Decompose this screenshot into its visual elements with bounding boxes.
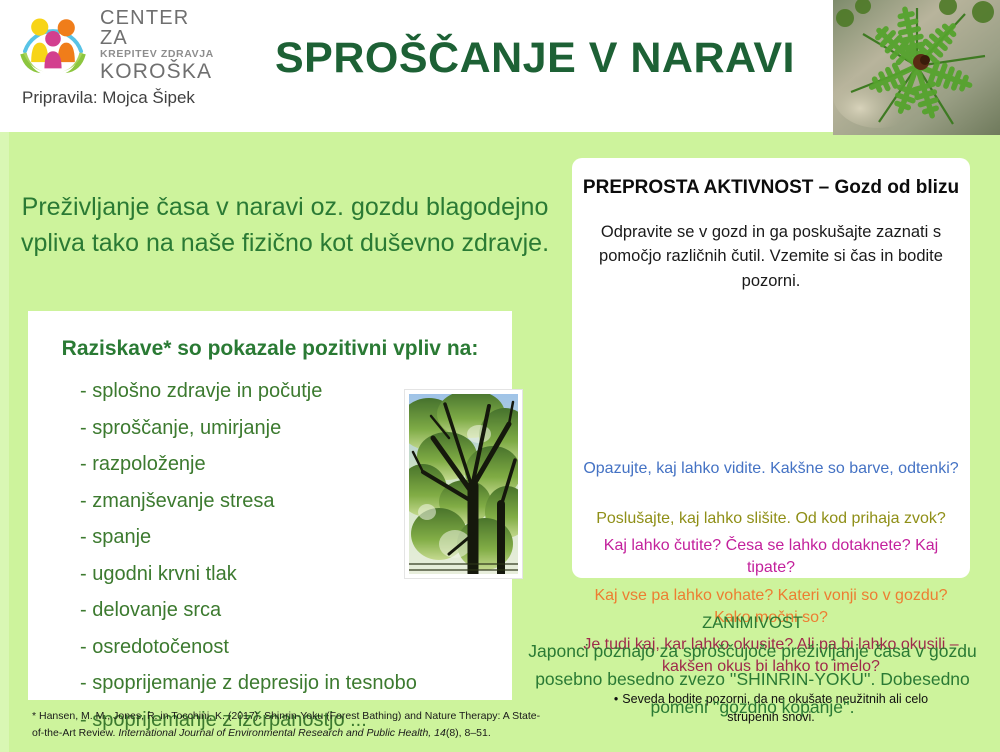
fun-fact-body: Japonci poznajo za sproščujoče preživlja… [528,641,976,718]
forest-canopy-photo [405,390,522,578]
organization-logo-block: CENTER ZA KREPITEV ZDRAVJA KOROŠKA [14,6,224,84]
list-item: - delovanje srca [80,600,500,620]
research-card-title: Raziskave* so pokazale pozitivni vpliv n… [28,337,512,361]
prepared-by-label: Pripravila: Mojca Šipek [22,88,195,108]
sense-prompt-hearing: Poslušajte, kaj lahko slišite. Od kod pr… [582,508,960,530]
family-in-hands-logo-icon [14,6,92,84]
list-item: - osredotočenost [80,637,500,657]
citation-part2: (8), 8–51. [446,727,491,739]
citation-journal: International Journal of Environmental R… [118,727,445,739]
poster-slide: CENTER ZA KREPITEV ZDRAVJA KOROŠKA Pripr… [0,0,1000,752]
activity-card-title: PREPROSTA AKTIVNOST – Gozd od blizu [572,177,970,199]
sense-prompt-touch: Kaj lahko čutite? Česa se lahko dotaknet… [582,535,960,578]
logo-text-line2: KREPITEV ZDRAVJA [100,49,224,60]
list-item: - spoprijemanje z depresijo in tesnobo [80,673,500,693]
intro-paragraph: Preživljanje časa v naravi oz. gozdu bla… [0,190,570,261]
logo-text-line3: KOROŠKA [100,61,224,82]
activity-intro-text: Odpravite se v gozd in ga poskušajte zaz… [586,220,956,293]
fern-photo [833,0,1000,135]
citation-footnote: * Hansen, M. M., Jones, R. in Tocchini, … [32,708,552,743]
fun-fact-block: ZANIMIVOST Japonci poznajo za sproščujoč… [505,610,1000,722]
logo-text-line1: CENTER ZA [100,8,224,48]
page-title: SPROŠČANJE V NARAVI [255,34,815,83]
fun-fact-heading: ZANIMIVOST [505,610,1000,637]
activity-card: PREPROSTA AKTIVNOST – Gozd od blizu Odpr… [572,158,970,578]
sense-prompt-sight: Opazujte, kaj lahko vidite. Kakšne so ba… [582,458,960,480]
poster-header: CENTER ZA KREPITEV ZDRAVJA KOROŠKA Pripr… [0,0,1000,132]
